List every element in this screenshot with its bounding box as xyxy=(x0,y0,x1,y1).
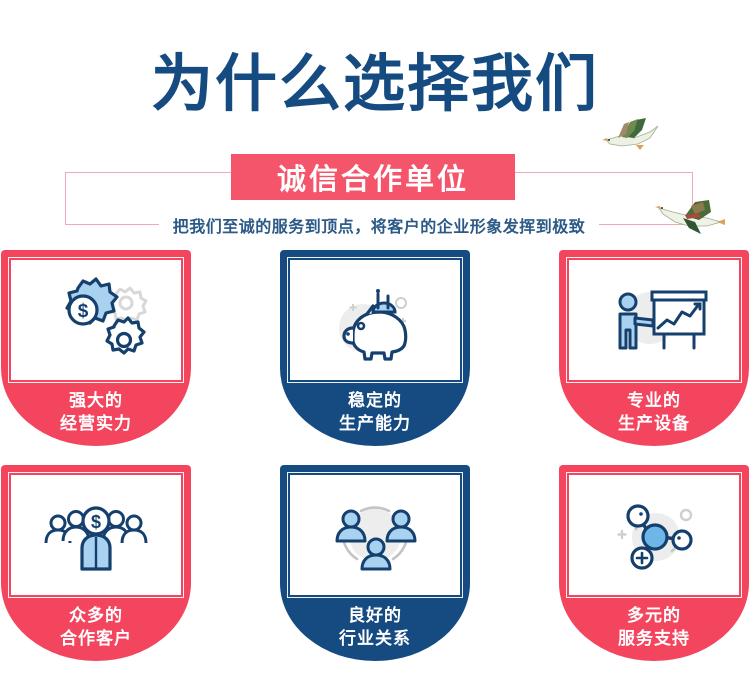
tagline-text: 把我们至诚的服务到顶点，将客户的企业形象发挥到极致 xyxy=(159,213,600,237)
card-caption-line2: 生产设备 xyxy=(559,413,749,436)
card-caption-line1: 稳定的 xyxy=(348,391,402,410)
feature-card-grid: $ 强大的 经营实力 xyxy=(0,250,750,680)
card-caption-line1: 多元的 xyxy=(627,606,681,625)
card-caption: 多元的 服务支持 xyxy=(559,605,749,651)
card-frame xyxy=(566,257,742,383)
card-row-1: $ 强大的 经营实力 xyxy=(0,250,750,465)
page-title: 为什么选择我们 xyxy=(0,52,750,117)
feature-card-support[interactable]: 多元的 服务支持 xyxy=(559,465,749,661)
card-caption-line2: 行业关系 xyxy=(280,628,470,651)
card-frame: $ xyxy=(8,257,184,383)
card-caption: 众多的 合作客户 xyxy=(1,605,191,651)
card-caption: 强大的 经营实力 xyxy=(1,390,191,436)
card-frame xyxy=(566,472,742,598)
card-caption: 专业的 生产设备 xyxy=(559,390,749,436)
subtitle-banner: 诚信合作单位 xyxy=(231,154,515,200)
svg-text:$: $ xyxy=(78,301,89,322)
feature-card-customers[interactable]: $ 众多的 合作客户 xyxy=(1,465,191,661)
people-network-icon xyxy=(315,485,435,585)
card-caption-line2: 经营实力 xyxy=(1,413,191,436)
card-caption-line1: 专业的 xyxy=(627,391,681,410)
card-caption-line1: 众多的 xyxy=(69,606,123,625)
feature-card-capacity[interactable]: 稳定的 生产能力 xyxy=(280,250,470,446)
card-row-2: $ 众多的 合作客户 xyxy=(0,465,750,680)
crowd-dollar-icon: $ xyxy=(36,485,156,585)
feature-card-strength[interactable]: $ 强大的 经营实力 xyxy=(1,250,191,446)
card-caption-line2: 生产能力 xyxy=(280,413,470,436)
card-media xyxy=(290,475,460,595)
card-media xyxy=(569,260,739,380)
card-media: $ xyxy=(11,260,181,380)
flying-goose-icon xyxy=(600,110,664,163)
card-caption-line1: 良好的 xyxy=(348,606,402,625)
card-frame xyxy=(287,257,463,383)
card-caption-line2: 服务支持 xyxy=(559,628,749,651)
card-media xyxy=(569,475,739,595)
subtitle-banner-label: 诚信合作单位 xyxy=(277,156,469,198)
feature-card-relations[interactable]: 良好的 行业关系 xyxy=(280,465,470,661)
gears-dollar-icon: $ xyxy=(36,270,156,370)
presenter-chart-icon xyxy=(594,270,714,370)
promo-page: 为什么选择我们 诚信合作单位 把我们至诚的服务到顶点，将客户的企业形象发挥到极致 xyxy=(0,0,750,700)
card-caption: 良好的 行业关系 xyxy=(280,605,470,651)
feature-card-equipment[interactable]: 专业的 生产设备 xyxy=(559,250,749,446)
flying-goose-icon xyxy=(655,188,729,245)
molecule-nodes-icon xyxy=(594,485,714,585)
piggy-bank-icon xyxy=(315,270,435,370)
svg-text:$: $ xyxy=(91,512,101,532)
card-caption-line2: 合作客户 xyxy=(1,628,191,651)
card-frame xyxy=(287,472,463,598)
card-caption-line1: 强大的 xyxy=(69,391,123,410)
card-frame: $ xyxy=(8,472,184,598)
card-media: $ xyxy=(11,475,181,595)
card-media xyxy=(290,260,460,380)
card-caption: 稳定的 生产能力 xyxy=(280,390,470,436)
tagline-row: 把我们至诚的服务到顶点，将客户的企业形象发挥到极致 xyxy=(65,209,693,241)
